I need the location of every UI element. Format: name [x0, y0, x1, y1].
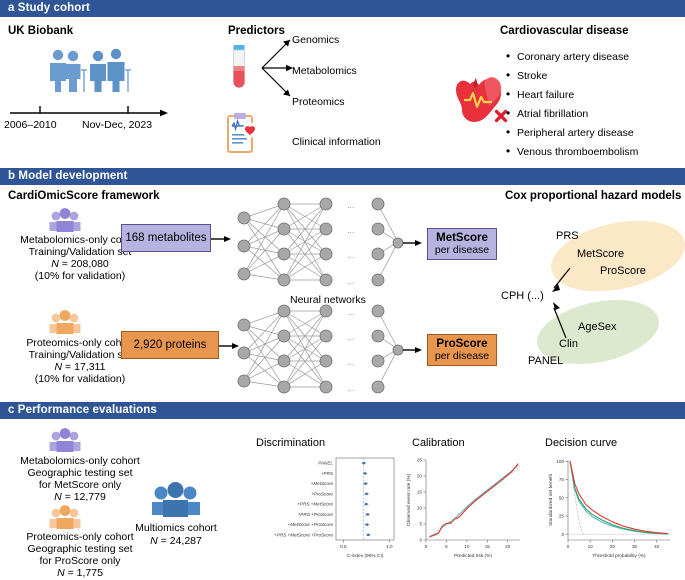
svg-text:20: 20 [417, 474, 423, 479]
panel-c-letter: c [8, 404, 15, 416]
cvd-item: Atrial fibrillation [505, 105, 638, 124]
nn-to-proscore-arrow [403, 344, 425, 356]
proscore-label: ProScore [600, 265, 646, 278]
cvd-item: Coronary artery disease [505, 48, 638, 67]
panel-a-title: Study cohort [18, 2, 90, 14]
svg-text:Standardized net benefit: Standardized net benefit [548, 473, 554, 526]
pro-testing-n: N = 1,775 [0, 567, 160, 580]
svg-text:5: 5 [419, 522, 422, 527]
svg-text:1.0: 1.0 [386, 544, 393, 549]
clin-label: Clin [559, 338, 578, 351]
svg-text:0: 0 [425, 544, 428, 549]
svg-text:25: 25 [559, 514, 565, 519]
clinical-information-label: Clinical information [292, 136, 381, 149]
cvd-item: Venous thromboembolism [505, 143, 638, 162]
panel-a-header: a Study cohort [0, 0, 685, 17]
people-group-icon [40, 48, 140, 93]
nn-output-node-proteomics [393, 343, 403, 357]
metscore-label: MetScore [577, 248, 624, 261]
panel-label: PANEL [528, 355, 563, 368]
metscore-output-box: MetScore per disease [427, 228, 497, 260]
prs-label: PRS [556, 230, 579, 243]
svg-text:+MetScore +ProScore: +MetScore +ProScore [288, 522, 334, 527]
panel-b-title: Model development [18, 170, 127, 182]
panel-c-header: c Performance evaluations [0, 402, 685, 419]
metabolomics-cohort-line4: (10% for validation) [0, 270, 160, 283]
svg-text:+PRS +ProScore: +PRS +ProScore [298, 512, 334, 517]
svg-text:0: 0 [419, 538, 422, 543]
uk-biobank-title: UK Biobank [8, 25, 73, 37]
svg-text:30: 30 [632, 544, 638, 549]
svg-text:5: 5 [445, 544, 448, 549]
clipboard-heart-icon [225, 112, 259, 154]
svg-text:20: 20 [505, 544, 511, 549]
decision-plot: 0255075100010203040Threshold probability… [538, 452, 683, 570]
svg-text:0: 0 [561, 532, 564, 537]
svg-text:50: 50 [559, 495, 565, 500]
met-testing-line3: for MetScore only [0, 479, 160, 492]
metscore-title: MetScore [436, 232, 488, 244]
svg-text:100: 100 [556, 459, 564, 464]
met-testing-n: N = 12,779 [0, 491, 160, 504]
svg-text:...: ... [347, 225, 355, 235]
svg-text:...: ... [347, 332, 355, 342]
svg-text:+PRS: +PRS [321, 471, 334, 476]
cvd-list: Coronary artery disease Stroke Heart fai… [505, 48, 638, 162]
met-testing-line2: Geographic testing set [0, 467, 160, 480]
svg-text:20: 20 [610, 544, 616, 549]
agesex-label: AgeSex [578, 321, 617, 334]
cvd-item: Stroke [505, 67, 638, 86]
svg-text:...: ... [347, 276, 355, 286]
cph-node-label: CPH (...) [501, 290, 544, 303]
people-group-icon-met-testing [48, 428, 82, 452]
neural-network-proteomics: ............ [230, 303, 400, 403]
proteomics-cohort-n: N = 17,311 [0, 361, 160, 374]
svg-text:10: 10 [417, 506, 423, 511]
svg-text:...: ... [347, 200, 355, 210]
cvd-item: Heart failure [505, 86, 638, 105]
svg-text:0: 0 [567, 544, 570, 549]
predictor-metabolomics-label: Metabolomics [292, 65, 357, 78]
metabolites-input-box: 168 metabolites [121, 224, 211, 252]
people-group-icon-proteomics [48, 310, 82, 334]
pro-testing-line3: for ProScore only [0, 555, 160, 568]
svg-text:...: ... [347, 307, 355, 317]
proscore-title: ProScore [436, 338, 487, 350]
cvd-title: Cardiovascular disease [500, 25, 629, 37]
panel-a-letter: a [8, 2, 15, 14]
people-group-icon-multiomics [150, 482, 202, 518]
discrimination-plot-title: Discrimination [256, 437, 325, 449]
calibration-plot-title: Calibration [412, 437, 465, 449]
proteins-input-box: 2,920 proteins [121, 331, 219, 359]
proteins-input-label: 2,920 proteins [134, 339, 207, 351]
svg-text:+ProScore: +ProScore [311, 491, 333, 496]
svg-text:...: ... [347, 383, 355, 393]
metabolites-input-label: 168 metabolites [125, 232, 206, 244]
panel-b-header: b Model development [0, 168, 685, 185]
svg-text:Observed event rate (%): Observed event rate (%) [406, 473, 412, 526]
svg-text:25: 25 [417, 458, 423, 463]
svg-text:PANEL: PANEL [318, 461, 333, 466]
timeline-start-label: 2006–2010 [4, 119, 57, 132]
svg-text:Predicted risk (%): Predicted risk (%) [454, 553, 492, 559]
decision-plot-title: Decision curve [545, 437, 617, 449]
proscore-sub: per disease [435, 350, 489, 362]
nn-output-node-metabolomics [393, 236, 403, 250]
predictor-genomics-label: Genomics [292, 34, 339, 47]
discrimination-plot: PANEL+PRS+MetScore+ProScore+PRS +MetScor… [250, 452, 400, 570]
svg-text:+MetScore: +MetScore [311, 481, 334, 486]
svg-text:0.5: 0.5 [340, 544, 347, 549]
svg-text:15: 15 [485, 544, 491, 549]
proteomics-cohort-line4: (10% for validation) [0, 373, 160, 386]
blood-tube-icon [228, 43, 250, 95]
svg-text:+PRS +MetScore +ProScore: +PRS +MetScore +ProScore [274, 532, 333, 537]
svg-text:15: 15 [417, 490, 423, 495]
nn-to-metscore-arrow [403, 237, 425, 249]
svg-text:40: 40 [654, 544, 660, 549]
svg-text:C-index (95% CI): C-index (95% CI) [347, 553, 384, 559]
svg-text:75: 75 [559, 477, 565, 482]
people-group-icon-pro-testing [48, 505, 82, 529]
neural-network-metabolomics: ............ [230, 196, 400, 296]
svg-text:10: 10 [588, 544, 594, 549]
panel-c-title: Performance evaluations [18, 404, 157, 416]
metabolomics-cohort-n: N = 208,080 [0, 258, 160, 271]
cph-models-title: Cox proportional hazard models [505, 190, 681, 202]
svg-text:Threshold probability (%): Threshold probability (%) [592, 553, 646, 559]
people-group-icon-metabolomics [48, 208, 82, 232]
timeline-axis [8, 100, 178, 120]
multiomics-n: N = 24,287 [120, 535, 232, 548]
framework-title: CardiOmicScore framework [8, 190, 159, 202]
met-testing-line1: Metabolomics-only cohort [0, 455, 160, 468]
svg-text:...: ... [347, 250, 355, 260]
metscore-sub: per disease [435, 244, 489, 256]
proscore-output-box: ProScore per disease [427, 334, 497, 366]
timeline-end-label: Nov-Dec, 2023 [82, 119, 152, 132]
predictor-proteomics-label: Proteomics [292, 96, 345, 109]
multiomics-label: Multiomics cohort [120, 522, 232, 535]
cvd-item: Peripheral artery disease [505, 124, 638, 143]
calibration-plot: 051015202505101520Predicted risk (%)Obse… [402, 452, 532, 570]
svg-text:10: 10 [464, 544, 470, 549]
svg-text:+PRS +MetScore: +PRS +MetScore [297, 502, 333, 507]
panel-b-letter: b [8, 170, 15, 182]
svg-text:...: ... [347, 357, 355, 367]
